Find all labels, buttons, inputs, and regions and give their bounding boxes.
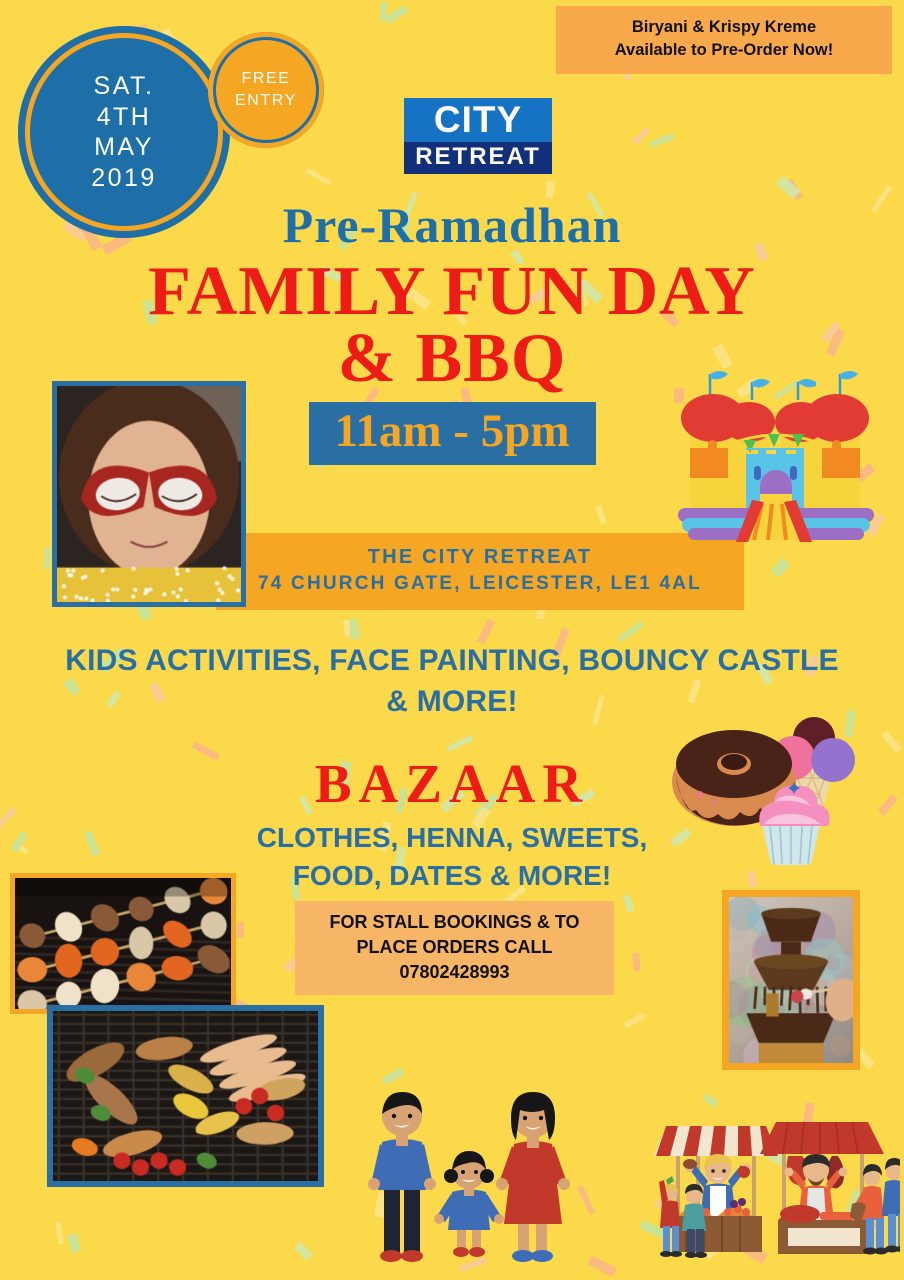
confetti-piece bbox=[632, 127, 650, 146]
confetti-piece bbox=[294, 1241, 314, 1260]
confetti-piece bbox=[381, 1067, 404, 1084]
bbq-skewers-photo bbox=[10, 873, 236, 1014]
family-illustration bbox=[352, 1088, 584, 1273]
title-line-1: FAMILY FUN DAY bbox=[0, 258, 904, 325]
market-stall-illustration bbox=[648, 1108, 900, 1273]
date-badge-date: 4TH bbox=[97, 102, 152, 133]
booking-contact-box: FOR STALL BOOKINGS & TO PLACE ORDERS CAL… bbox=[295, 901, 614, 995]
activities-line-1: KIDS ACTIVITIES, FACE PAINTING, BOUNCY C… bbox=[0, 640, 904, 681]
preorder-line1: Biryani & Krispy Kreme bbox=[564, 16, 884, 39]
confetti-piece bbox=[618, 621, 644, 642]
confetti-piece bbox=[624, 1012, 646, 1028]
left-stall bbox=[654, 1126, 778, 1258]
logo-city-text: CITY bbox=[404, 98, 552, 142]
booking-line-2: PLACE ORDERS CALL bbox=[301, 935, 608, 960]
event-time-banner: 11am - 5pm bbox=[309, 402, 596, 465]
confetti-piece bbox=[771, 558, 790, 578]
venue-name: THE CITY RETREAT bbox=[224, 543, 736, 571]
date-badge-year: 2019 bbox=[91, 163, 157, 194]
confetti-piece bbox=[702, 1094, 718, 1108]
venue-address-band: THE CITY RETREAT 74 CHURCH GATE, LEICEST… bbox=[216, 533, 744, 610]
chocolate-fountain-photo bbox=[722, 890, 860, 1070]
confetti-piece bbox=[67, 1233, 81, 1252]
confetti-piece bbox=[305, 168, 331, 186]
preorder-banner: Biryani & Krispy Kreme Available to Pre-… bbox=[556, 6, 892, 74]
date-badge: SAT. 4TH MAY 2019 bbox=[18, 26, 230, 238]
confetti-piece bbox=[632, 953, 641, 971]
free-entry-line2: ENTRY bbox=[235, 90, 297, 112]
confetti-piece bbox=[881, 731, 902, 753]
confetti-piece bbox=[55, 1222, 64, 1245]
confetti-piece bbox=[649, 133, 674, 147]
face-painting-photo bbox=[52, 381, 246, 607]
confetti-piece bbox=[623, 894, 634, 912]
mother-figure bbox=[496, 1092, 570, 1262]
city-retreat-logo: CITY RETREAT bbox=[404, 98, 552, 174]
confetti-piece bbox=[595, 505, 607, 525]
confetti-piece bbox=[385, 5, 409, 24]
bouncy-castle-icon bbox=[668, 336, 884, 546]
child-figure bbox=[434, 1151, 504, 1257]
confetti-piece bbox=[545, 181, 555, 199]
booking-line-1: FOR STALL BOOKINGS & TO bbox=[301, 910, 608, 935]
logo-retreat-text: RETREAT bbox=[404, 142, 552, 174]
preorder-line2: Available to Pre-Order Now! bbox=[564, 39, 884, 62]
free-entry-badge: FREE ENTRY bbox=[208, 32, 324, 148]
date-badge-day: SAT. bbox=[94, 71, 155, 102]
free-entry-line1: FREE bbox=[241, 68, 290, 90]
confetti-piece bbox=[43, 547, 50, 569]
confetti-piece bbox=[237, 922, 244, 938]
venue-street: 74 CHURCH GATE, LEICESTER, LE1 4AL bbox=[224, 571, 736, 598]
father-figure bbox=[368, 1092, 436, 1262]
sweets-illustration bbox=[668, 702, 880, 872]
confetti-piece bbox=[587, 1255, 617, 1277]
confetti-piece bbox=[446, 735, 474, 752]
booking-phone-number: 07802428993 bbox=[301, 960, 608, 985]
right-stall bbox=[760, 1122, 900, 1255]
event-poster: SAT. 4TH MAY 2019 FREE ENTRY Biryani & K… bbox=[0, 0, 904, 1280]
date-badge-month: MAY bbox=[94, 132, 154, 163]
bbq-grill-photo bbox=[47, 1005, 324, 1187]
